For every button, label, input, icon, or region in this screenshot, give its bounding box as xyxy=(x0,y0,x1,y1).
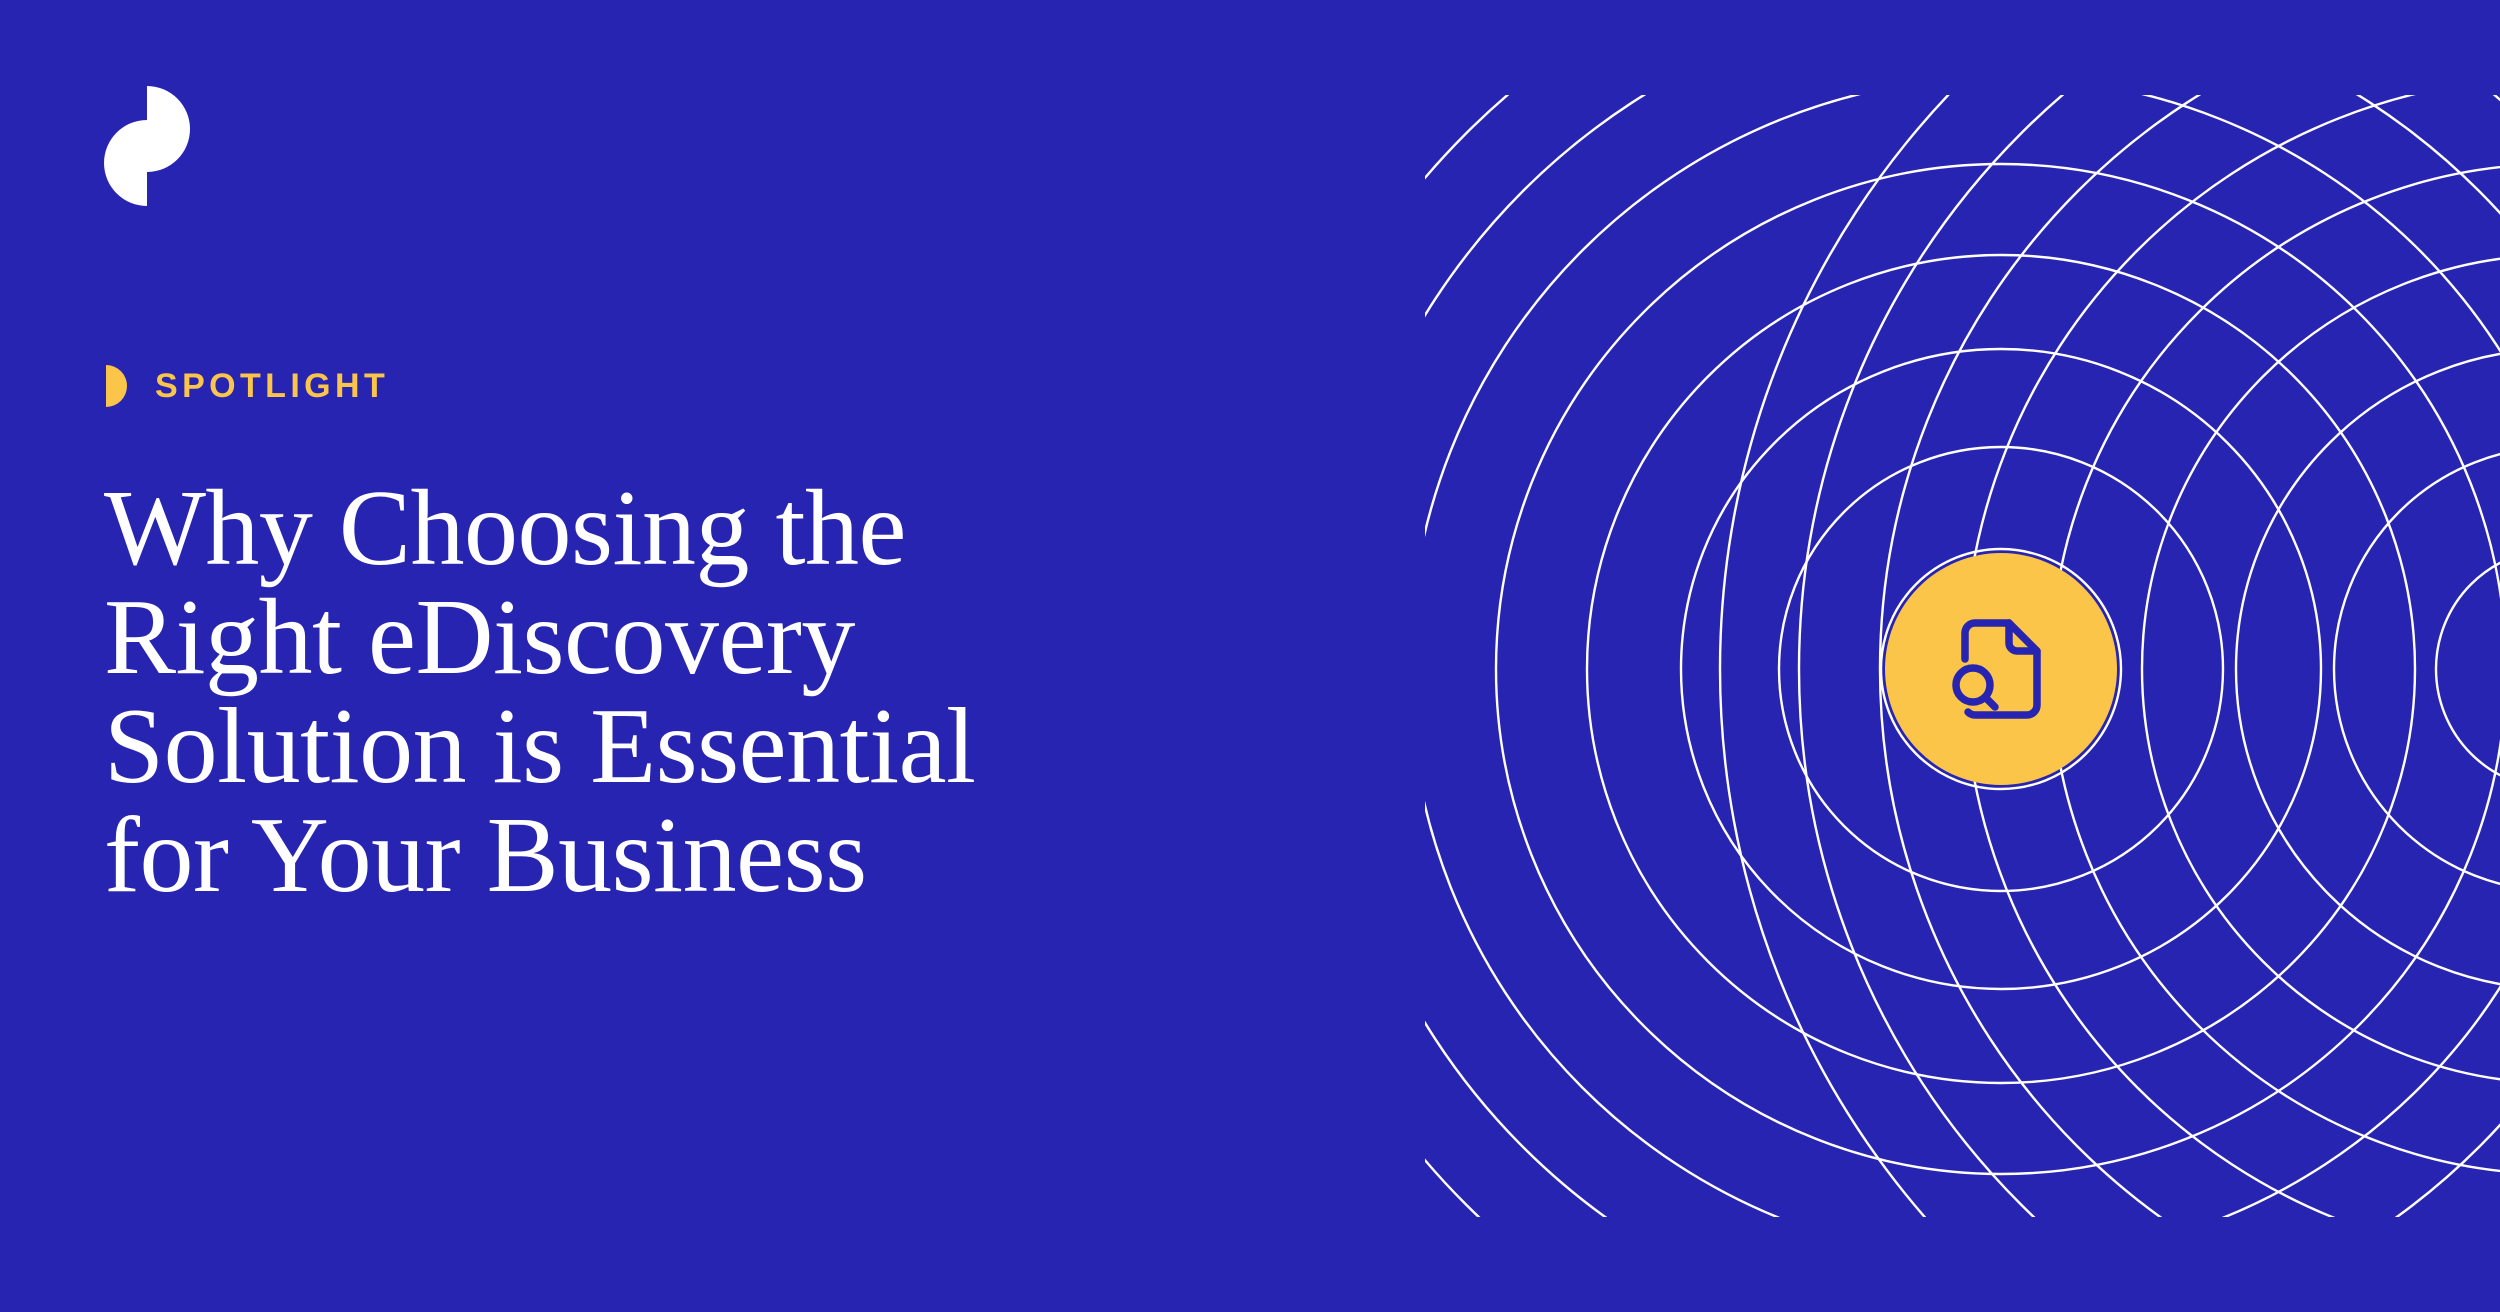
casepoint-logo[interactable] xyxy=(104,86,224,206)
document-search-icon xyxy=(1939,607,2063,731)
page-title: Why Choosing the Right eDiscovery Soluti… xyxy=(104,474,1254,910)
spotlight-eyebrow: SPOTLIGHT xyxy=(106,363,389,409)
spotlight-banner: SPOTLIGHT Why Choosing the Right eDiscov… xyxy=(0,0,2500,1312)
document-search-badge xyxy=(1885,553,2117,785)
casepoint-droplet-mark xyxy=(104,86,190,206)
half-disc-bullet-icon xyxy=(106,365,127,407)
headline-line-1: Why Choosing the xyxy=(104,474,1254,583)
headline-line-3: Solution is Essential xyxy=(104,692,1254,801)
spotlight-label: SPOTLIGHT xyxy=(155,369,389,403)
headline-line-2: Right eDiscovery xyxy=(104,583,1254,692)
content-column: SPOTLIGHT Why Choosing the Right eDiscov… xyxy=(104,0,1304,1312)
headline-line-4: for Your Business xyxy=(104,801,1254,910)
